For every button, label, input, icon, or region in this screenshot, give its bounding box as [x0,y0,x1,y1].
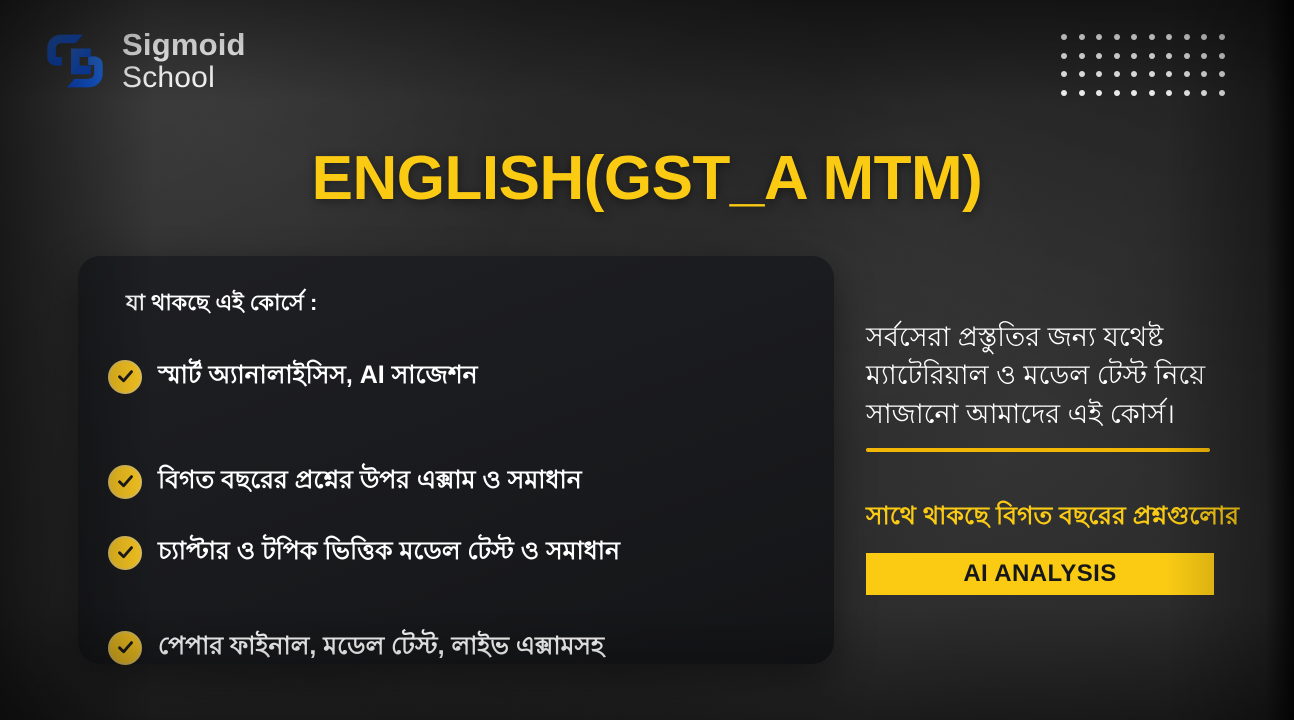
sigmoid-s-logo-icon [42,28,108,94]
grid-dot [1096,71,1102,77]
grid-dot [1114,71,1120,77]
promo-kicker: সাথে থাকছে বিগত বছরের প্রশ্নগুলোর [866,496,1286,539]
feature-label: পেপার ফাইনাল, মডেল টেস্ট, লাইভ এক্সামসহ [158,626,604,669]
grid-dot [1149,34,1155,40]
brand-name-line-2: School [122,62,246,93]
grid-dot [1096,53,1102,59]
page-title: ENGLISH(GST_A MTM) [0,143,1294,214]
grid-dot [1079,34,1085,40]
grid-dot [1061,71,1067,77]
grid-dot [1166,90,1172,96]
grid-dot [1201,53,1207,59]
grid-dot [1166,71,1172,77]
grid-dot [1096,90,1102,96]
grid-dot [1219,53,1225,59]
grid-dot [1131,90,1137,96]
grid-dot [1079,53,1085,59]
grid-dot [1166,53,1172,59]
check-circle-icon [108,631,142,665]
feature-label: স্মার্ট অ্যানালাইসিস, AI সাজেশন [158,355,478,398]
brand-name-line-1: Sigmoid [122,29,246,61]
grid-dot [1219,34,1225,40]
grid-dot [1079,71,1085,77]
grid-dot [1061,34,1067,40]
check-circle-icon [108,360,142,394]
grid-dot [1201,90,1207,96]
grid-dot [1184,90,1190,96]
card-heading: যা থাকছে এই কোর্সে : [126,286,804,323]
grid-dot [1114,90,1120,96]
brand-wordmark: Sigmoid School [122,29,246,92]
promo-paragraph: সর্বসেরা প্রস্তুতির জন্য যথেষ্ট ম্যাটেরি… [866,318,1212,433]
grid-dot [1114,34,1120,40]
grid-dot [1219,90,1225,96]
grid-dot [1201,34,1207,40]
grid-dot [1149,71,1155,77]
feature-label: চ্যাপ্টার ও টপিক ভিত্তিক মডেল টেস্ট ও সম… [158,531,620,574]
check-circle-icon [108,536,142,570]
grid-dot [1184,71,1190,77]
brand-logo[interactable]: Sigmoid School [42,28,246,94]
check-circle-icon [108,465,142,499]
grid-dot [1166,34,1172,40]
dot-grid-icon [1061,34,1236,108]
feature-list-item: স্মার্ট অ্যানালাইসিস, AI সাজেশন [108,355,804,398]
ai-analysis-button[interactable]: AI ANALYSIS [866,553,1214,595]
course-promo-poster: Sigmoid School ENGLISH(GST_A MTM) যা থাক… [0,0,1294,720]
promo-column: সর্বসেরা প্রস্তুতির জন্য যথেষ্ট ম্যাটেরি… [866,318,1286,595]
feature-list-item: পেপার ফাইনাল, মডেল টেস্ট, লাইভ এক্সামসহ [108,626,804,669]
grid-dot [1131,53,1137,59]
feature-list-item: চ্যাপ্টার ও টপিক ভিত্তিক মডেল টেস্ট ও সম… [108,531,804,574]
grid-dot [1149,90,1155,96]
grid-dot [1184,53,1190,59]
grid-dot [1131,71,1137,77]
grid-dot [1096,34,1102,40]
course-features-card: যা থাকছে এই কোর্সে : স্মার্ট অ্যানালাইসি… [78,256,834,664]
grid-dot [1149,53,1155,59]
grid-dot [1061,53,1067,59]
feature-label: বিগত বছরের প্রশ্নের উপর এক্সাম ও সমাধান [158,460,582,503]
grid-dot [1201,71,1207,77]
grid-dot [1219,71,1225,77]
grid-dot [1061,90,1067,96]
grid-dot [1114,53,1120,59]
grid-dot [1184,34,1190,40]
promo-divider [866,448,1210,452]
feature-list-item: বিগত বছরের প্রশ্নের উপর এক্সাম ও সমাধান [108,460,804,503]
grid-dot [1079,90,1085,96]
feature-list: স্মার্ট অ্যানালাইসিস, AI সাজেশনবিগত বছরে… [108,355,804,669]
grid-dot [1131,34,1137,40]
